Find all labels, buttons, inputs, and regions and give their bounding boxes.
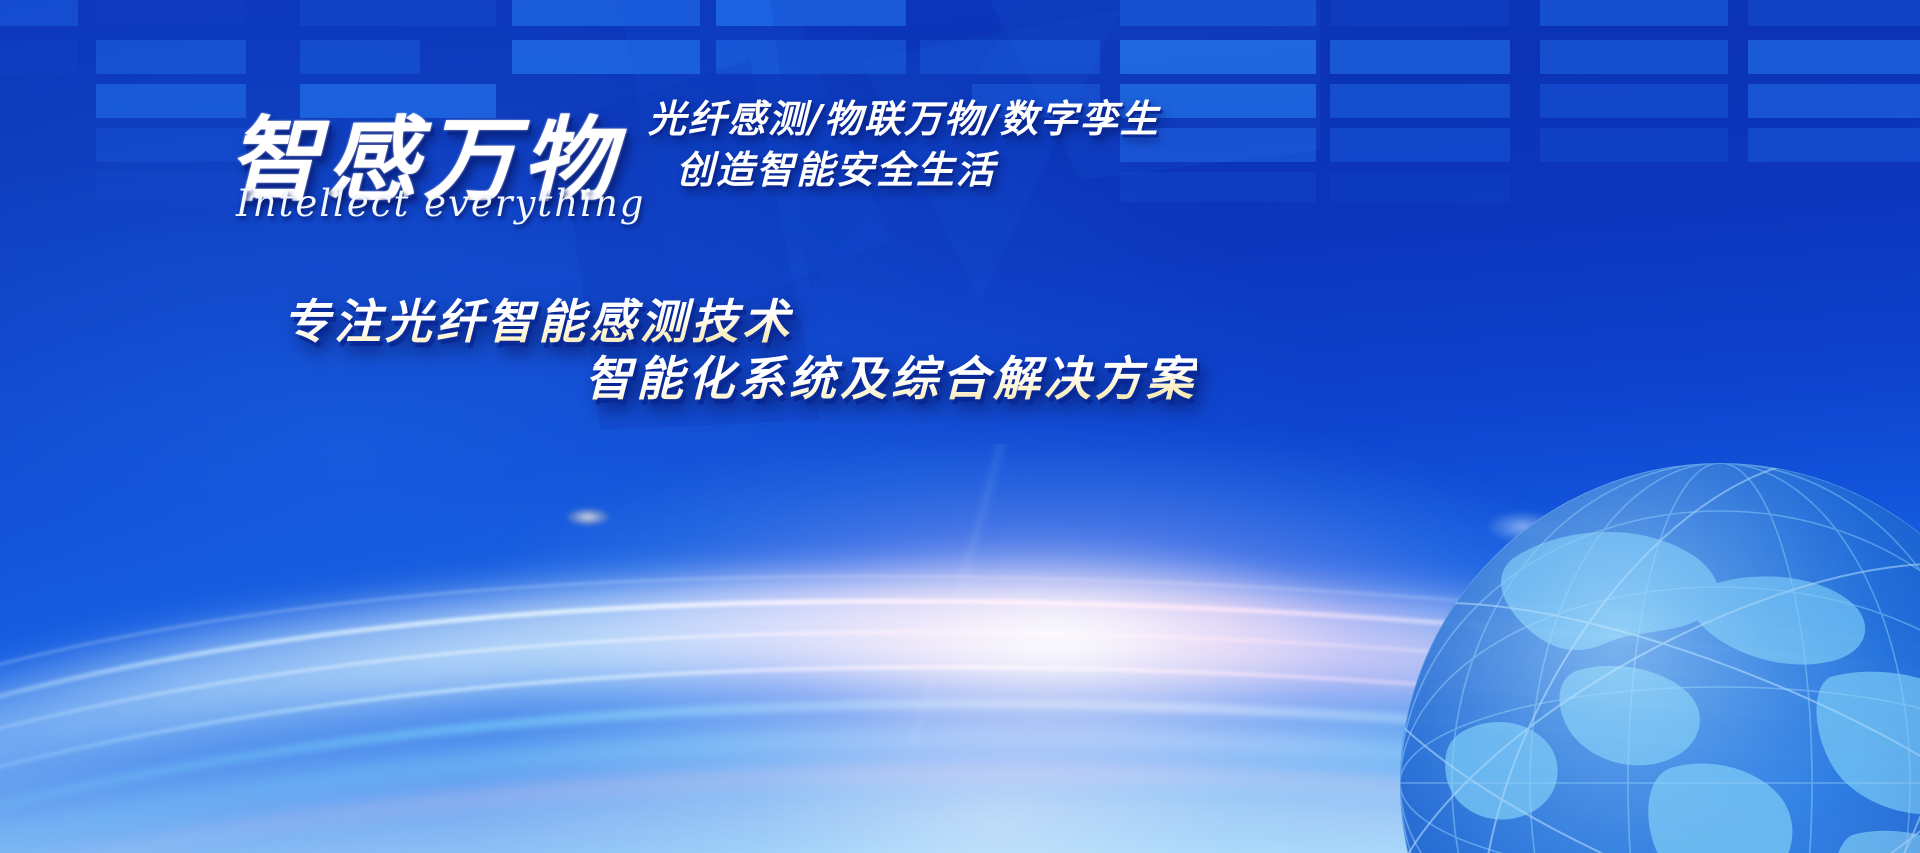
- subhead-solution: 智能化系统及综合解决方案: [585, 340, 1197, 409]
- lens-flare-decoration: [566, 508, 610, 526]
- tagline-primary: 光纤感测/物联万物/数字孪生: [648, 88, 1160, 143]
- globe-icon: [1400, 463, 1920, 853]
- hero-banner: 智感万物 Intellect everything 光纤感测/物联万物/数字孪生…: [0, 0, 1920, 853]
- tagline-secondary: 创造智能安全生活: [676, 139, 996, 194]
- page-subtitle-english: Intellect everything: [236, 182, 645, 225]
